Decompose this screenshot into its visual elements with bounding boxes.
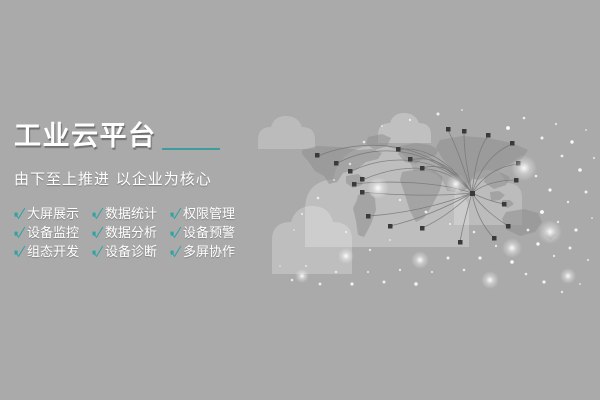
title-row: 工业云平台 [14, 122, 254, 154]
cloud-shape-small-upper-left [258, 116, 315, 149]
feature-item: 多屏协作 [170, 243, 248, 262]
title-underline-rule [162, 148, 220, 150]
page-title: 工业云平台 [14, 122, 157, 152]
feature-item: 设备监控 [14, 224, 92, 243]
subtitle: 由下至上推进 以企业为核心 [14, 170, 254, 188]
check-mark-icon [92, 226, 104, 239]
check-mark-icon [14, 207, 26, 220]
feature-label: 数据分析 [105, 226, 157, 241]
check-mark-icon [170, 245, 182, 258]
cloud-world-network-illustration [250, 80, 600, 305]
feature-item: 数据统计 [92, 205, 170, 224]
check-mark-icon [170, 207, 182, 220]
check-mark-icon [170, 226, 182, 239]
check-mark-icon [14, 245, 26, 258]
feature-label: 权限管理 [183, 207, 235, 222]
feature-list: 大屏展示 数据统计 权限管理 [14, 205, 254, 262]
feature-label: 设备预警 [183, 226, 235, 241]
banner-root: 工业云平台 由下至上推进 以企业为核心 大屏展示 [0, 0, 600, 400]
check-mark-icon [14, 226, 26, 239]
feature-item: 大屏展示 [14, 205, 92, 224]
feature-item: 设备诊断 [92, 243, 170, 262]
feature-label: 组态开发 [27, 245, 79, 260]
feature-label: 设备监控 [27, 226, 79, 241]
feature-label: 设备诊断 [105, 245, 157, 260]
feature-item: 权限管理 [170, 205, 248, 224]
feature-item: 数据分析 [92, 224, 170, 243]
feature-label: 大屏展示 [27, 207, 79, 222]
hero-text-block: 工业云平台 由下至上推进 以企业为核心 大屏展示 [14, 122, 254, 262]
check-mark-icon [92, 207, 104, 220]
feature-item: 设备预警 [170, 224, 248, 243]
feature-label: 数据统计 [105, 207, 157, 222]
feature-item: 组态开发 [14, 243, 92, 262]
check-mark-icon [92, 245, 104, 258]
feature-label: 多屏协作 [183, 245, 235, 260]
